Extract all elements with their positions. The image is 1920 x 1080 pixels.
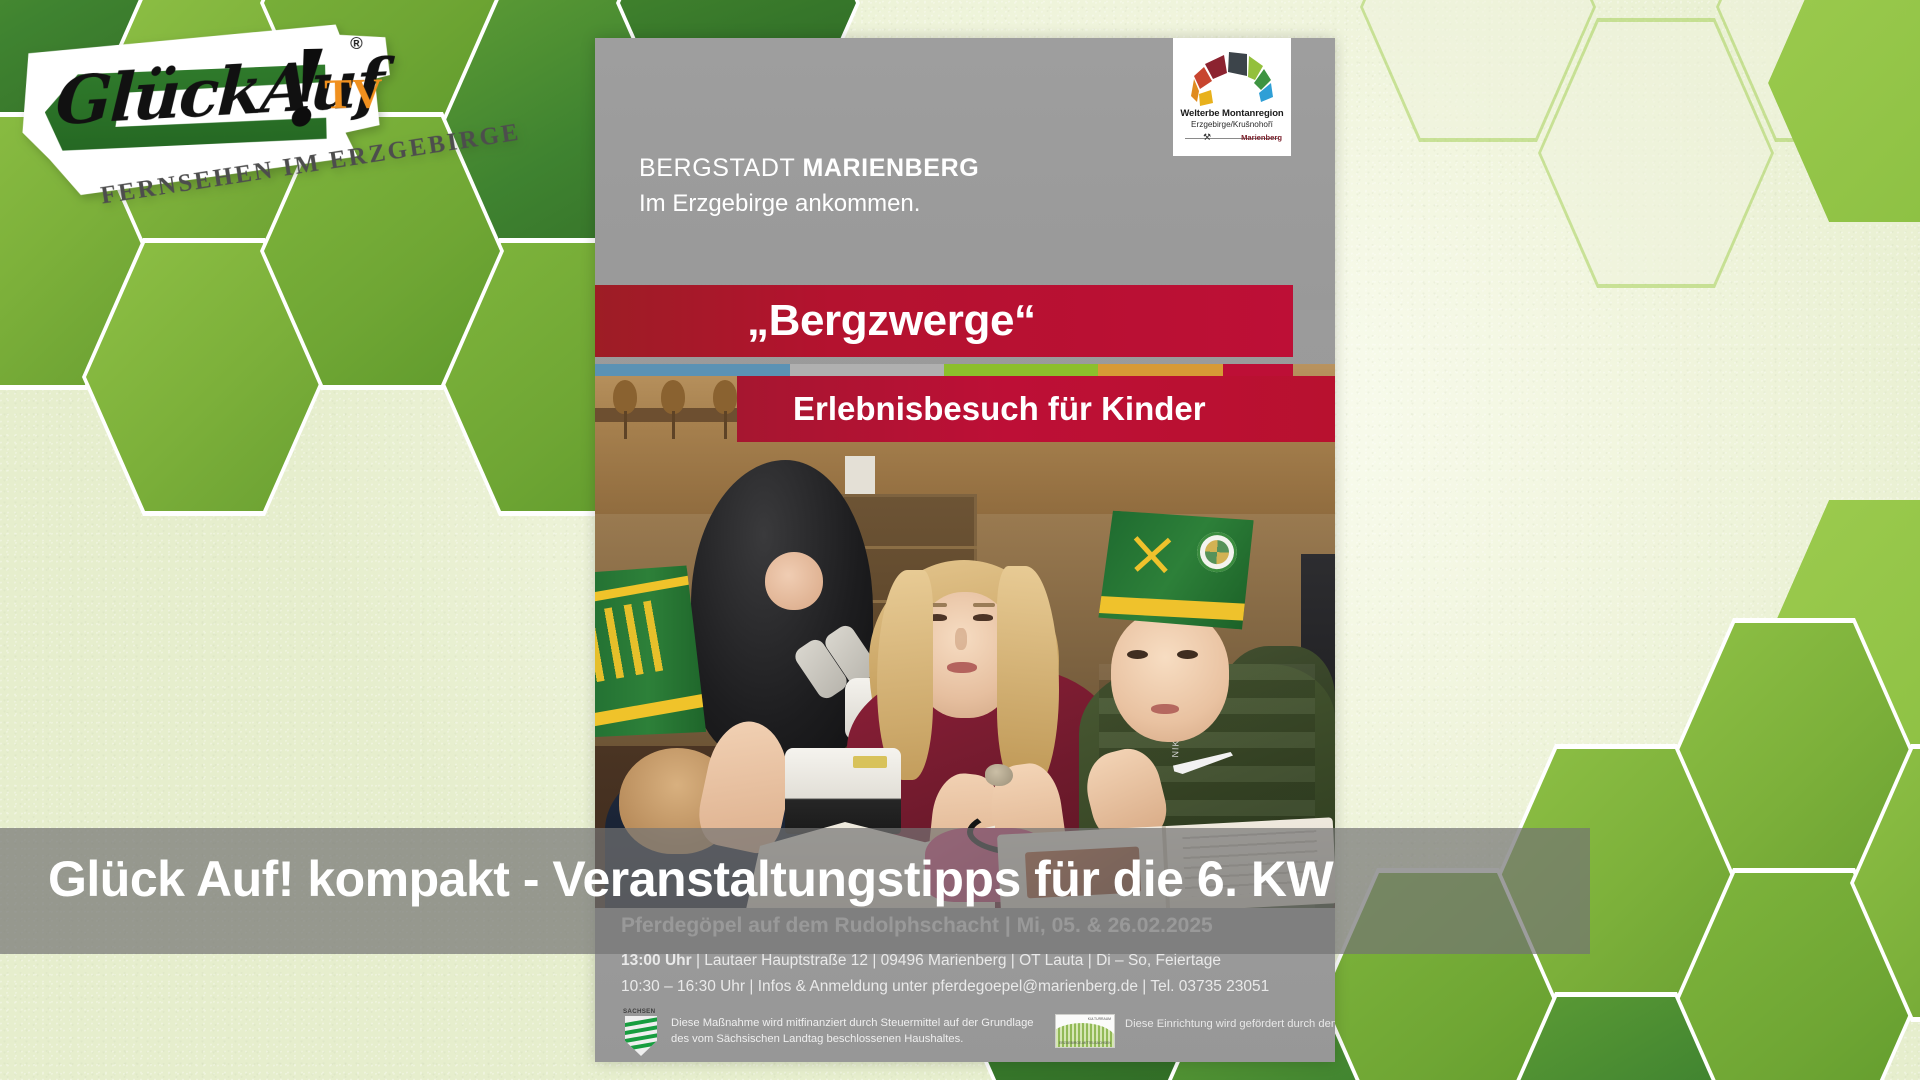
accent-blue: [595, 364, 790, 376]
kulturraum-logo-header: KULTURRAUM: [1088, 1017, 1111, 1021]
gluck-auf-tv-logo: GlückAuf ! ® TV FERNSEHEN IM ERZGEBIRGE: [20, 18, 404, 198]
unesco-line2: Erzgebirge/Krušnohoří: [1173, 120, 1291, 129]
accent-green: [944, 364, 1098, 376]
photo-hanging-tool: [661, 380, 685, 414]
photo-miner-hat-right: [1098, 510, 1254, 630]
accent-gray: [790, 364, 944, 376]
poster-title-band: „Bergzwerge“: [595, 285, 1293, 357]
kulturraum-logo: KULTURRAUM ERZGEBIRGE-MITTELSACHSEN: [1055, 1014, 1115, 1048]
kulturraum-notice: KULTURRAUM ERZGEBIRGE-MITTELSACHSEN Dies…: [1055, 1014, 1335, 1048]
saxony-coat-of-arms-icon: SACHSEN: [621, 1016, 661, 1048]
accent-orange: [1098, 364, 1224, 376]
poster-title: „Bergzwerge“: [747, 296, 1036, 346]
poster-brand-subline: Im Erzgebirge ankommen.: [639, 190, 920, 218]
poster-accent-strip: [595, 364, 1293, 376]
unesco-welterbe-badge: Welterbe Montanregion Erzgebirge/Krušnoh…: [1173, 38, 1291, 156]
unesco-line3: Marienberg: [1241, 133, 1282, 142]
unesco-line1: Welterbe Montanregion: [1173, 108, 1291, 119]
funding-notice: SACHSEN Diese Maßnahme wird mitfinanzier…: [621, 1016, 1051, 1048]
photo-wall-paper: [845, 456, 875, 496]
photo-child-back-left-face: [765, 552, 823, 610]
photo-hat-emblem: [1196, 531, 1238, 573]
photo-hanging-tool: [613, 380, 637, 414]
event-time: 13:00 Uhr: [621, 952, 692, 969]
event-detail-line-2: 10:30 – 16:30 Uhr | Infos & Anmeldung un…: [621, 978, 1325, 996]
poster-header: BERGSTADT MARIENBERG Im Erzgebirge ankom…: [595, 38, 1335, 310]
lower-third-headline: Glück Auf! kompakt - Veranstaltungstipps…: [48, 850, 1333, 908]
funding-text: Diese Maßnahme wird mitfinanziert durch …: [671, 1016, 1051, 1048]
poster-photo: NIKE: [595, 364, 1335, 908]
logo-tv-suffix: TV: [324, 70, 383, 119]
poster-subtitle-band: Erlebnisbesuch für Kinder: [737, 376, 1335, 442]
brand-prefix: BERGSTADT: [639, 154, 802, 182]
kulturraum-logo-footer: ERZGEBIRGE-MITTELSACHSEN: [1059, 1041, 1111, 1045]
crossed-hammers-icon: ⚒: [1203, 132, 1211, 143]
welterbe-fan-icon: [1191, 50, 1273, 108]
event-address: | Lautaer Hauptstraße 12 | 09496 Marienb…: [692, 952, 1221, 969]
saxony-caption: SACHSEN: [623, 1008, 655, 1015]
photo-held-mineral: [985, 764, 1013, 786]
brand-city: MARIENBERG: [802, 154, 979, 182]
poster-brand-line: BERGSTADT MARIENBERG: [639, 154, 979, 183]
poster-subtitle: Erlebnisbesuch für Kinder: [793, 390, 1206, 428]
crossed-hammers-icon: [1128, 532, 1176, 578]
hexagon-tile: [1768, 0, 1920, 222]
lower-third-banner: Glück Auf! kompakt - Veranstaltungstipps…: [0, 828, 1590, 954]
photo-equipment: [785, 748, 901, 834]
event-detail-line-1: 13:00 Uhr | Lautaer Hauptstraße 12 | 094…: [621, 952, 1325, 970]
accent-red: [1223, 364, 1293, 376]
kulturraum-text: Diese Einrichtung wird gefördert durch d…: [1125, 1014, 1335, 1030]
registered-trademark-icon: ®: [350, 34, 363, 54]
photo-hanging-tool: [713, 380, 737, 414]
